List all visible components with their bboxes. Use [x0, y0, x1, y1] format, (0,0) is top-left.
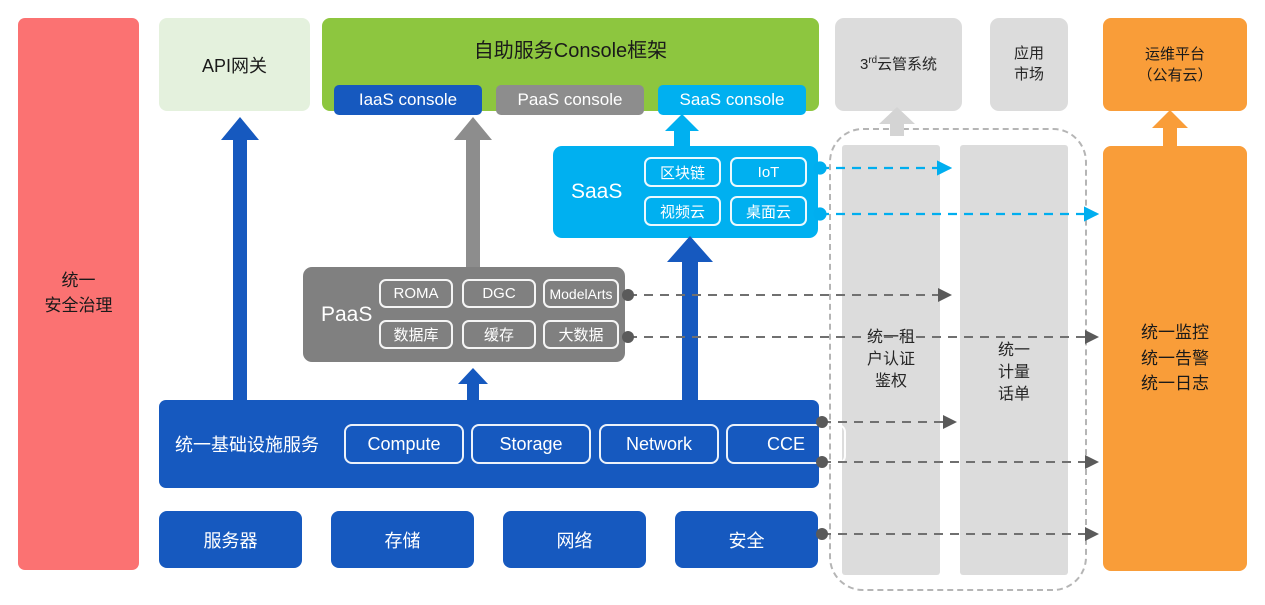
saas-item-iot[interactable]: IoT: [730, 157, 807, 187]
third-party-cloud-mgmt-label: 3rd云管系统: [860, 54, 937, 75]
shared-service-auth-line-1: 统一租: [867, 327, 915, 349]
paas-item-modelarts[interactable]: ModelArts: [543, 279, 619, 308]
paas-block[interactable]: PaaS ROMA DGC ModelArts 数据库 缓存 大数据: [303, 267, 625, 362]
saas-block-label: SaaS: [571, 180, 622, 204]
iaas-console-pill[interactable]: IaaS console: [334, 85, 482, 115]
resource-box-network[interactable]: 网络: [503, 511, 646, 568]
ops-platform-line-2: （公有云）: [1137, 65, 1212, 86]
resource-box-server-label: 服务器: [204, 527, 258, 553]
unified-security-governance-panel[interactable]: 统一 安全治理: [18, 18, 139, 570]
infra-item-network-label: Network: [626, 434, 692, 455]
third-party-suffix: 云管系统: [877, 56, 937, 73]
paas-item-dgc[interactable]: DGC: [462, 279, 536, 308]
infra-item-storage-label: Storage: [499, 434, 562, 455]
ops-platform-line-1: 运维平台: [1145, 44, 1205, 65]
security-line-1: 统一: [62, 269, 96, 294]
security-line-2: 安全治理: [45, 294, 113, 319]
arrow-infra-to-api-gateway: [221, 117, 259, 400]
infra-item-compute[interactable]: Compute: [344, 424, 464, 464]
saas-block[interactable]: SaaS 区块链 IoT 视频云 桌面云: [553, 146, 818, 238]
arrow-saas-to-console: [665, 114, 699, 146]
architecture-diagram: 统一 安全治理 API网关 自助服务Console框架 IaaS console…: [0, 0, 1265, 605]
paas-console-pill[interactable]: PaaS console: [496, 85, 644, 115]
arrow-ops-panel-to-ops-platform: [1152, 110, 1188, 146]
resource-box-storage-label: 存储: [385, 527, 421, 553]
app-market-box[interactable]: 应用 市场: [990, 18, 1068, 111]
paas-item-modelarts-label: ModelArts: [549, 286, 612, 302]
paas-item-database-label: 数据库: [393, 324, 438, 345]
shared-service-billing-line-1: 统一: [998, 340, 1030, 362]
infra-item-cce-label: CCE: [767, 434, 805, 455]
unified-infrastructure-label: 统一基础设施服务: [175, 431, 319, 457]
ops-panel-line-3: 统一日志: [1141, 371, 1209, 397]
self-service-console-frame[interactable]: 自助服务Console框架 IaaS console PaaS console …: [322, 18, 819, 111]
shared-service-billing-line-3: 话单: [998, 384, 1030, 406]
third-party-cloud-mgmt-box[interactable]: 3rd云管系统: [835, 18, 962, 111]
resource-box-storage[interactable]: 存储: [331, 511, 474, 568]
resource-box-server[interactable]: 服务器: [159, 511, 302, 568]
paas-item-database[interactable]: 数据库: [379, 320, 453, 349]
paas-item-cache-label: 缓存: [484, 324, 514, 345]
paas-item-roma-label: ROMA: [394, 285, 439, 302]
saas-item-blockchain[interactable]: 区块链: [644, 157, 721, 187]
api-gateway-label: API网关: [202, 52, 267, 78]
ops-panel-line-2: 统一告警: [1141, 346, 1209, 372]
unified-infrastructure-bar[interactable]: 统一基础设施服务 Compute Storage Network CCE: [159, 400, 819, 488]
saas-item-desktop-cloud-label: 桌面云: [746, 201, 791, 222]
ops-platform-public-cloud-box[interactable]: 运维平台 （公有云）: [1103, 18, 1247, 111]
shared-service-auth-line-3: 鉴权: [875, 371, 907, 393]
paas-item-bigdata-label: 大数据: [558, 324, 603, 345]
resource-box-security[interactable]: 安全: [675, 511, 818, 568]
saas-item-iot-label: IoT: [758, 164, 780, 181]
saas-item-blockchain-label: 区块链: [660, 162, 705, 183]
saas-item-video-cloud[interactable]: 视频云: [644, 196, 721, 226]
paas-console-label: PaaS console: [518, 90, 623, 110]
app-market-line-2: 市场: [1014, 65, 1044, 85]
shared-service-auth-line-2: 户认证: [867, 349, 915, 371]
saas-console-pill[interactable]: SaaS console: [658, 85, 806, 115]
app-market-line-1: 应用: [1014, 44, 1044, 64]
infra-item-compute-label: Compute: [367, 434, 440, 455]
shared-service-billing-column[interactable]: 统一 计量 话单: [960, 158, 1068, 588]
saas-item-video-cloud-label: 视频云: [660, 201, 705, 222]
arrow-infra-to-paas: [458, 368, 488, 400]
arrow-infra-to-saas: [667, 236, 713, 400]
paas-item-bigdata[interactable]: 大数据: [543, 320, 619, 349]
paas-block-label: PaaS: [321, 303, 372, 327]
third-party-ordinal-sup: rd: [868, 55, 877, 66]
ops-panel-line-1: 统一监控: [1141, 320, 1209, 346]
iaas-console-label: IaaS console: [359, 90, 457, 110]
infra-item-storage[interactable]: Storage: [471, 424, 591, 464]
infra-item-network[interactable]: Network: [599, 424, 719, 464]
resource-box-network-label: 网络: [557, 527, 593, 553]
paas-item-dgc-label: DGC: [482, 285, 515, 302]
saas-console-label: SaaS console: [680, 90, 785, 110]
shared-service-billing-line-2: 计量: [998, 362, 1030, 384]
shared-service-auth-column[interactable]: 统一租 户认证 鉴权: [842, 145, 940, 575]
unified-ops-panel[interactable]: 统一监控 统一告警 统一日志: [1103, 146, 1247, 571]
console-frame-title: 自助服务Console框架: [322, 34, 819, 63]
resource-box-security-label: 安全: [729, 527, 765, 553]
saas-item-desktop-cloud[interactable]: 桌面云: [730, 196, 807, 226]
paas-item-roma[interactable]: ROMA: [379, 279, 453, 308]
paas-item-cache[interactable]: 缓存: [462, 320, 536, 349]
api-gateway-box[interactable]: API网关: [159, 18, 310, 111]
infra-item-cce[interactable]: CCE: [726, 424, 846, 464]
arrow-paas-to-console: [454, 117, 492, 267]
